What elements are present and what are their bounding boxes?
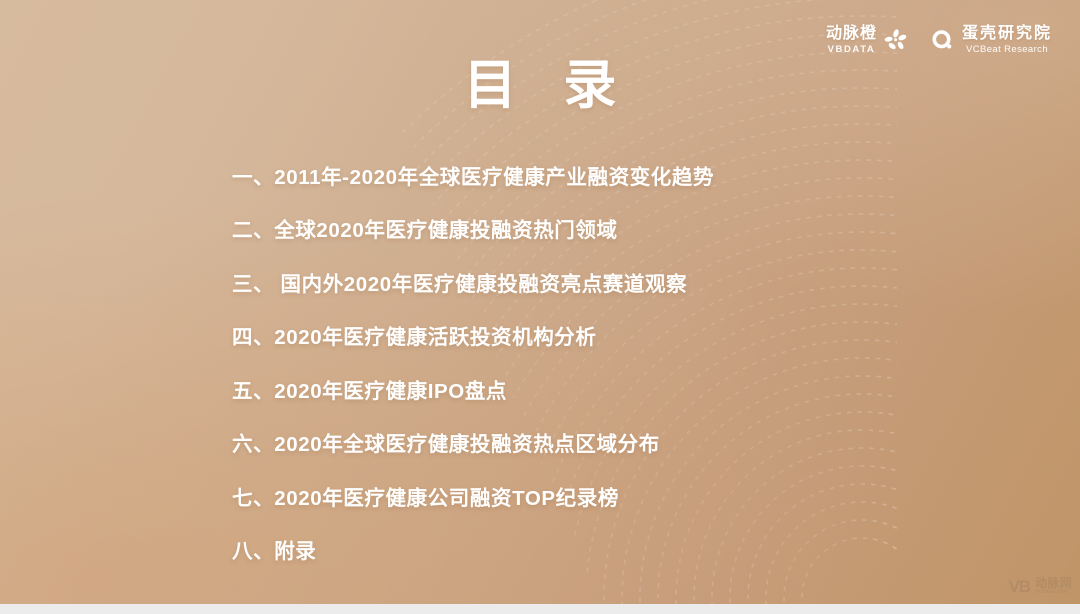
toc-item-1[interactable]: 一、2011年-2020年全球医疗健康产业融资变化趋势 (232, 148, 714, 202)
ring-dot-icon (930, 28, 955, 53)
toc-item-6[interactable]: 六、2020年全球医疗健康投融资热点区域分布 (232, 416, 714, 470)
logo-vbdata-cn: 动脉橙 (826, 26, 877, 42)
toc-item-3[interactable]: 三、 国内外2020年医疗健康投融资亮点赛道观察 (232, 255, 714, 309)
header-logo-bar: 动脉橙 VBDATA 蛋壳研究院 VCBe (826, 26, 1052, 55)
watermark-mark: VB (1008, 578, 1030, 595)
watermark: VB 动脉网 vcbeat.net (1008, 577, 1072, 596)
watermark-cn: 动脉网 (1035, 577, 1072, 590)
logo-vbdata-en: VBDATA (828, 45, 876, 55)
toc-item-5[interactable]: 五、2020年医疗健康IPO盘点 (232, 362, 714, 416)
toc-item-7[interactable]: 七、2020年医疗健康公司融资TOP纪录榜 (232, 469, 714, 523)
toc-item-4[interactable]: 四、2020年医疗健康活跃投资机构分析 (232, 309, 714, 363)
toc-item-2[interactable]: 二、全球2020年医疗健康投融资热门领域 (232, 202, 714, 256)
pinwheel-icon (884, 28, 908, 52)
logo-vcbeat: 蛋壳研究院 VCBeat Research (930, 26, 1052, 55)
slide-canvas: 动脉橙 VBDATA 蛋壳研究院 VCBe (0, 0, 1080, 604)
watermark-en: vcbeat.net (1035, 589, 1072, 596)
logo-vcbeat-cn: 蛋壳研究院 (962, 26, 1052, 42)
logo-vcbeat-en: VCBeat Research (966, 45, 1048, 55)
page-title: 目 录 (0, 57, 1080, 115)
toc-item-8[interactable]: 八、附录 (232, 523, 714, 577)
table-of-contents: 一、2011年-2020年全球医疗健康产业融资变化趋势 二、全球2020年医疗健… (232, 148, 714, 576)
logo-vbdata: 动脉橙 VBDATA (826, 26, 908, 55)
bottom-strip (0, 604, 1080, 614)
